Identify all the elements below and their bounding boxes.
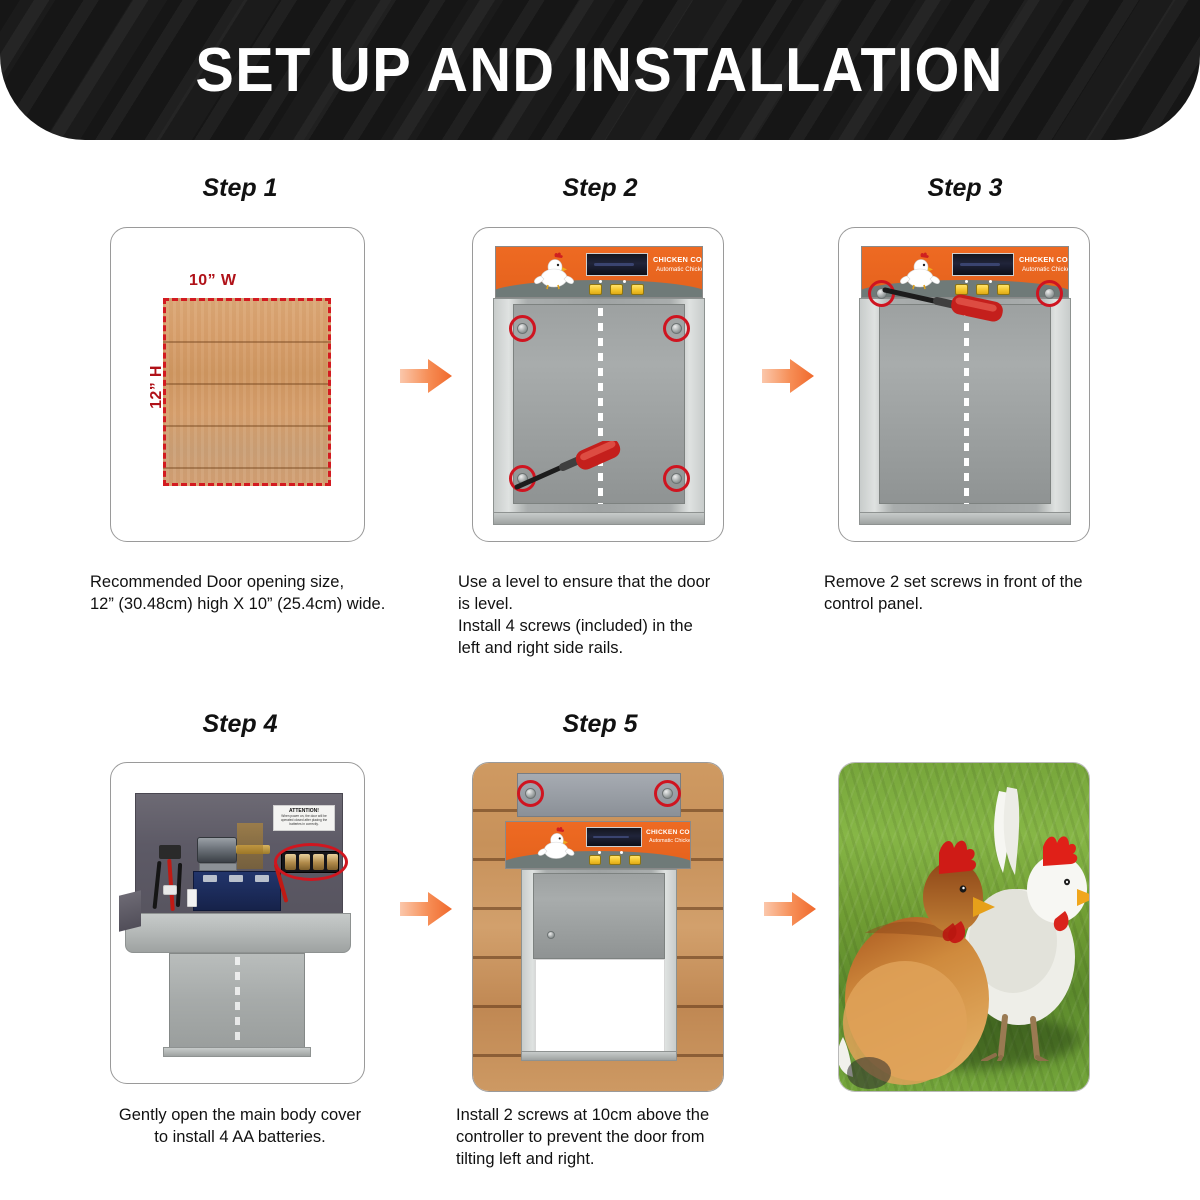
brand-subtitle-text: Automatic Chicken Door (649, 838, 691, 844)
pcb-connector-2 (229, 875, 243, 882)
step-4-heading: Step 4 (90, 710, 390, 739)
bottom-rail (493, 512, 705, 525)
brand-name-text: CHICKEN COOP OPENER (646, 829, 691, 836)
brand-subtitle-text: Automatic Chicken Door (656, 266, 703, 273)
cover-hinge-left (119, 890, 141, 931)
battery-area-highlight (274, 843, 348, 881)
set-screw-highlight-right (1036, 280, 1063, 307)
wire-connector (163, 885, 177, 895)
step-3-heading: Step 3 (815, 174, 1115, 203)
brass-plate (237, 823, 263, 869)
drive-motor (197, 837, 237, 863)
step-5-caption: Install 2 screws at 10cm above the contr… (456, 1105, 756, 1171)
arrow-step2-to-step3 (760, 355, 816, 397)
step-2-image-card: CHICKEN COOP OPENER Automatic Chicken Do… (472, 227, 724, 542)
status-led-left (599, 280, 602, 283)
screwdriver-tool (513, 441, 633, 493)
status-led-right (620, 851, 623, 854)
pcb-connector-1 (203, 875, 217, 882)
lcd-display (952, 253, 1014, 276)
lower-door-sill (163, 1047, 311, 1057)
screw-highlight-top-left (509, 315, 536, 342)
panel-button-1[interactable] (589, 855, 601, 865)
result-photo-card (838, 762, 1090, 1092)
screw-highlight-top-right (663, 315, 690, 342)
step-3-image-card: CHICKEN COOP OPENER Automatic Chicken Do… (838, 227, 1090, 542)
wire-clip (159, 845, 181, 859)
chicken-door-front-view-step3: CHICKEN COOP OPENER Automatic Chicken Do… (851, 236, 1079, 536)
step-5-heading: Step 5 (450, 710, 750, 739)
width-dimension-label: 10” W (189, 272, 236, 290)
arrow-step1-to-step2 (398, 355, 454, 397)
open-body-internals-view: ATTENTION! When power on, the door will … (111, 763, 364, 1083)
step-2-heading: Step 2 (450, 174, 750, 203)
control-panel-head: CHICKEN COOP OPENER Automatic Chicken Do… (495, 246, 703, 298)
panel-button-3[interactable] (629, 855, 641, 865)
brand-subtitle-text: Automatic Chicken Door (1022, 266, 1069, 273)
panel-button-2[interactable] (609, 855, 621, 865)
door-opening-diagram: 10” W 12” H (111, 228, 364, 541)
chicken-door-front-view-step2: CHICKEN COOP OPENER Automatic Chicken Do… (485, 236, 713, 536)
attention-label-body: When power on, the door will be operated… (276, 814, 332, 826)
wood-opening-area (163, 298, 331, 486)
panel-button-2[interactable] (610, 284, 623, 295)
attention-label: ATTENTION! When power on, the door will … (273, 805, 335, 831)
panel-button-1[interactable] (589, 284, 602, 295)
bottom-rail (859, 512, 1071, 525)
status-led-right (623, 280, 626, 283)
door-plate-screw (547, 931, 555, 939)
step-1-caption: Recommended Door opening size, 12” (30.4… (90, 572, 420, 616)
status-led-left (598, 851, 601, 854)
mounted-door-view: CHICKEN COOP OPENER Automatic Chicken Do… (473, 763, 723, 1091)
brand-name-text: CHICKEN COOP OPENER (653, 255, 703, 264)
screwdriver-tool (881, 280, 1021, 326)
bracket-screw-highlight-right (654, 780, 681, 807)
center-alignment-dashed-line (964, 308, 969, 504)
screw-highlight-bottom-right (663, 465, 690, 492)
lower-door-dashed-line (235, 957, 240, 1041)
control-panel-head: CHICKEN COOP OPENER Automatic Chicken Do… (505, 821, 691, 869)
brand-name-text: CHICKEN COOP OPENER (1019, 255, 1069, 264)
arrow-step4-to-step5 (398, 888, 454, 930)
step-4-image-card: ATTENTION! When power on, the door will … (110, 762, 365, 1084)
step-1-image-card: 10” W 12” H (110, 227, 365, 542)
step-4-caption: Gently open the main body cover to insta… (90, 1105, 390, 1149)
bracket-screw-highlight-left (517, 780, 544, 807)
door-opening-gap (535, 959, 665, 1053)
door-sill (521, 1051, 677, 1061)
panel-button-3[interactable] (631, 284, 644, 295)
step-3-caption: Remove 2 set screws in front of the cont… (824, 572, 1144, 616)
pcb-connector-3 (255, 875, 269, 882)
lcd-display (586, 253, 648, 276)
step-1-heading: Step 1 (90, 174, 390, 203)
brown-hen (838, 823, 995, 1092)
door-slide-plate-raised (533, 873, 665, 959)
step-5-image-card: CHICKEN COOP OPENER Automatic Chicken Do… (472, 762, 724, 1092)
chicken-logo-icon (536, 824, 578, 862)
infographic-page: SET UP AND INSTALLATION Step 1 Step 2 St… (0, 0, 1200, 1200)
step-2-caption: Use a level to ensure that the door is l… (458, 572, 758, 660)
page-header-banner: SET UP AND INSTALLATION (0, 0, 1200, 140)
lcd-display (586, 827, 642, 847)
pcb-terminal-block (187, 889, 197, 907)
body-cover-lip (125, 913, 351, 953)
chicken-logo-icon (532, 250, 578, 290)
motor-mount (199, 863, 237, 871)
arrow-step5-to-result (762, 888, 818, 930)
page-title: SET UP AND INSTALLATION (196, 35, 1004, 106)
